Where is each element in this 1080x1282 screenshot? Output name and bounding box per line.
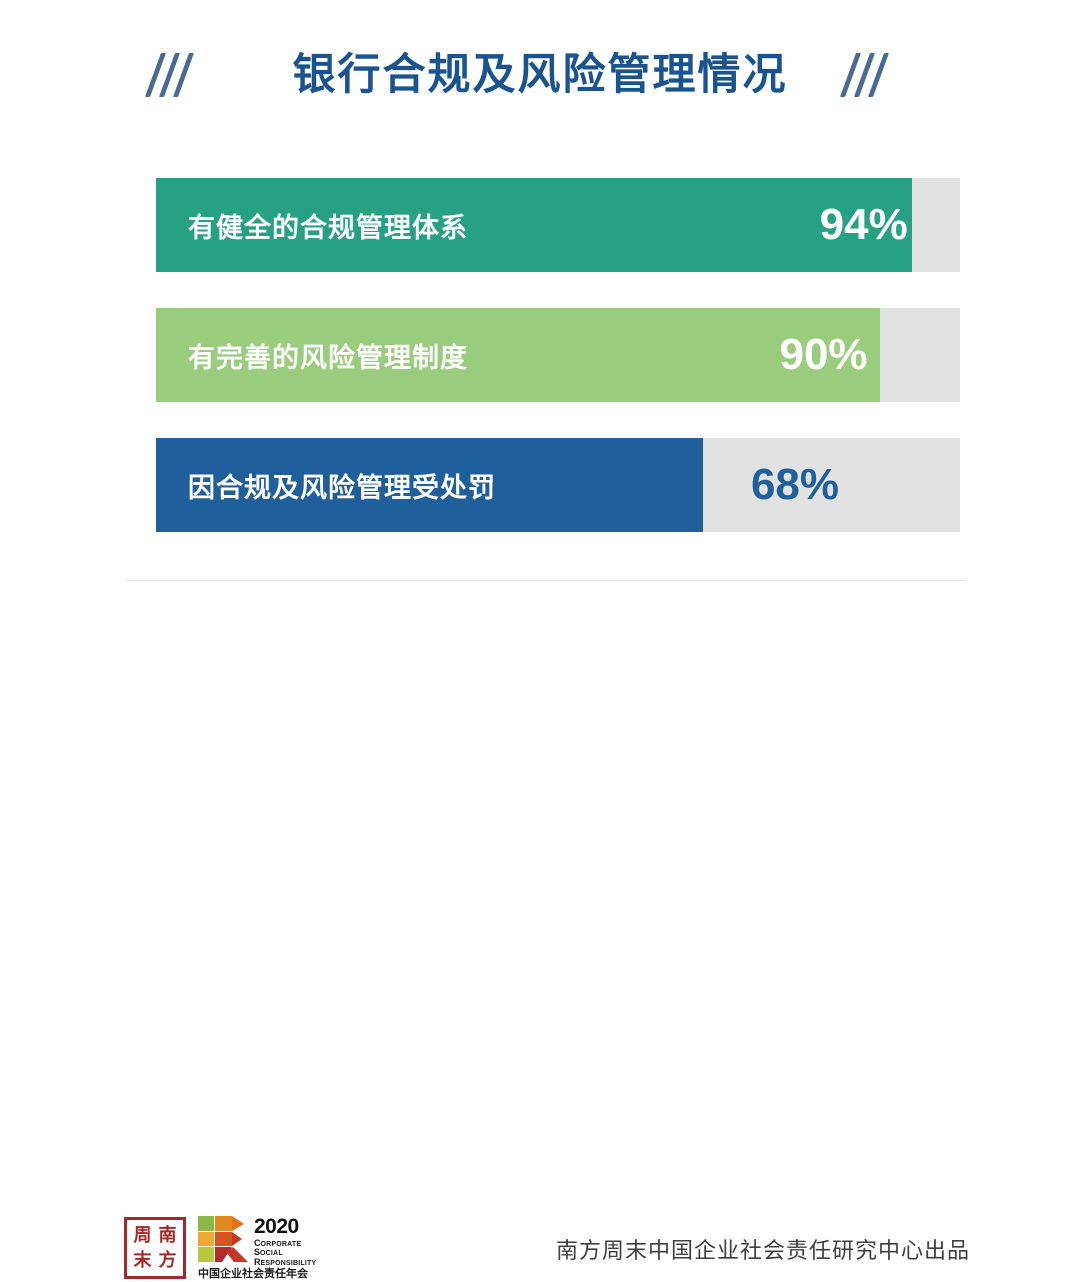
bar-category-label: 因合规及风险管理受处罚: [188, 466, 496, 505]
csr-2020-logo: 2020 C ORPORATE S OCIAL R ESPONSIBILITY …: [198, 1216, 326, 1282]
bar-row: 有健全的合规管理体系 94%: [156, 178, 960, 272]
bar-row: 有完善的风险管理制度 90%: [156, 308, 960, 402]
csr-text-block: 2020 C ORPORATE S OCIAL R ESPONSIBILITY: [254, 1216, 326, 1267]
bar-category-label: 有完善的风险管理制度: [188, 336, 468, 375]
csr-word-line: S OCIAL: [254, 1248, 326, 1257]
slash-decoration-left-icon: [153, 52, 233, 98]
slash-decoration-right-icon: [848, 52, 928, 98]
csr-word-line: C ORPORATE: [254, 1239, 326, 1248]
csr-mark-icon: [198, 1216, 250, 1262]
seal-char: 南: [155, 1223, 180, 1248]
bar-value-label: 68%: [751, 438, 839, 532]
page-footer: 周 南 末 方 2020 C ORPORATE S: [0, 605, 1080, 695]
horizontal-bar-chart: 有健全的合规管理体系 94% 有完善的风险管理制度 90% 因合规及风险管理受处…: [156, 178, 960, 532]
csr-chinese-subtitle: 中国企业社会责任年会: [198, 1265, 326, 1281]
bar-fill: 有健全的合规管理体系: [156, 178, 912, 272]
bar-category-label: 有健全的合规管理体系: [188, 206, 468, 245]
bar-fill: 因合规及风险管理受处罚: [156, 438, 703, 532]
csr-year: 2020: [254, 1216, 326, 1237]
page-title: 银行合规及风险管理情况: [293, 54, 788, 97]
page-header: 银行合规及风险管理情况: [0, 40, 1080, 110]
csr-word-social: OCIAL: [260, 1250, 283, 1257]
csr-words: C ORPORATE S OCIAL R ESPONSIBILITY: [254, 1239, 326, 1267]
footer-divider: [126, 580, 966, 581]
seal-char: 周: [130, 1223, 155, 1248]
southern-weekly-seal-icon: 周 南 末 方: [124, 1217, 186, 1279]
csr-word-corporate: ORPORATE: [261, 1241, 302, 1248]
seal-char: 末: [130, 1248, 155, 1273]
footer-credit-text: 南方周末中国企业社会责任研究中心出品: [556, 1233, 970, 1265]
seal-char: 方: [155, 1248, 180, 1273]
bar-value-label: 90%: [779, 308, 867, 402]
bar-row: 因合规及风险管理受处罚 68%: [156, 438, 960, 532]
bar-fill: 有完善的风险管理制度: [156, 308, 880, 402]
bar-value-label: 94%: [820, 178, 908, 272]
